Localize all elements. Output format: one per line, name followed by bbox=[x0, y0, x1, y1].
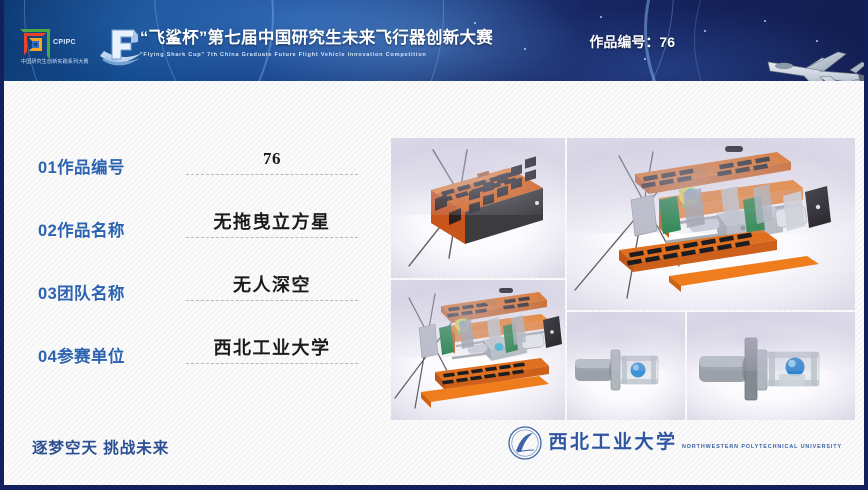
entry-info-list: 01作品编号 76 02作品名称 无拖曳立方星 03团队名称 无人深空 bbox=[38, 144, 368, 396]
cpipc-name-cn: 中国研究生创新实践系列大赛 bbox=[21, 58, 89, 65]
info-value-team-name: 无人深空 bbox=[186, 270, 358, 300]
thruster-detail-view-1 bbox=[567, 312, 685, 420]
cubesat-assembled-view bbox=[391, 138, 565, 278]
competition-title-cn: “飞鲨杯”第七届中国研究生未来飞行器创新大赛 bbox=[140, 28, 450, 49]
competition-title-en: "Flying Shark Cup" 7th China Graduate Fu… bbox=[140, 52, 450, 58]
info-value-institution-wrap: 西北工业大学 bbox=[186, 333, 358, 364]
footer-slogan: 逐梦空天 挑战未来 bbox=[32, 436, 169, 458]
info-label-work-number: 01作品编号 bbox=[38, 154, 125, 178]
cubesat-exploded-view-small bbox=[391, 280, 565, 420]
flying-shark-f-emblem-icon bbox=[96, 26, 144, 72]
info-row-3: 03团队名称 无人深空 bbox=[38, 270, 368, 333]
info-row-1: 01作品编号 76 bbox=[38, 144, 368, 207]
npu-university-logo: 西北工业大学 NORTHWESTERN POLYTECHNICAL UNIVER… bbox=[508, 421, 842, 465]
info-value-team-name-wrap: 无人深空 bbox=[186, 270, 358, 301]
header-star bbox=[816, 40, 818, 42]
fighter-jet-icon bbox=[762, 44, 864, 81]
info-rule bbox=[186, 237, 358, 238]
slide-header-banner: CPIPC 中国研究生创新实践系列大赛 “飞鲨杯”第七届中国研究生未来飞行器创新… bbox=[4, 0, 864, 81]
header-star bbox=[644, 58, 646, 60]
info-label-institution: 04参赛单位 bbox=[38, 343, 125, 367]
info-value-institution: 西北工业大学 bbox=[186, 333, 358, 363]
header-star bbox=[764, 20, 766, 22]
thruster-detail-view-2 bbox=[687, 312, 855, 420]
npu-name-block: 西北工业大学 NORTHWESTERN POLYTECHNICAL UNIVER… bbox=[549, 433, 842, 454]
presentation-slide: CPIPC 中国研究生创新实践系列大赛 “飞鲨杯”第七届中国研究生未来飞行器创新… bbox=[0, 0, 868, 490]
header-star bbox=[524, 48, 526, 50]
info-rule bbox=[186, 363, 358, 364]
cubesat-exploded-view-large bbox=[567, 138, 855, 310]
header-star bbox=[600, 16, 602, 18]
cubesat-image-gallery bbox=[391, 138, 855, 420]
npu-seal-icon bbox=[508, 426, 542, 460]
entry-number-badge: 作品编号：76 bbox=[589, 32, 675, 52]
slide-canvas: CPIPC 中国研究生创新实践系列大赛 “飞鲨杯”第七届中国研究生未来飞行器创新… bbox=[4, 0, 864, 485]
info-row-2: 02作品名称 无拖曳立方星 bbox=[38, 207, 368, 270]
cpipc-spiral-icon bbox=[20, 29, 50, 59]
cpipc-abbr: CPIPC bbox=[53, 39, 76, 46]
info-value-work-number: 76 bbox=[186, 144, 358, 174]
npu-name-en: NORTHWESTERN POLYTECHNICAL UNIVERSITY bbox=[682, 444, 842, 450]
info-value-work-name: 无拖曳立方星 bbox=[186, 207, 358, 237]
header-star bbox=[704, 30, 706, 32]
npu-name-cn: 西北工业大学 bbox=[549, 432, 678, 453]
header-star bbox=[474, 22, 476, 24]
info-label-team-name: 03团队名称 bbox=[38, 280, 125, 304]
info-value-work-number-wrap: 76 bbox=[186, 144, 358, 175]
competition-title-block: “飞鲨杯”第七届中国研究生未来飞行器创新大赛 "Flying Shark Cup… bbox=[140, 28, 450, 58]
info-rule bbox=[186, 174, 358, 175]
info-row-4: 04参赛单位 西北工业大学 bbox=[38, 333, 368, 396]
info-value-work-name-wrap: 无拖曳立方星 bbox=[186, 207, 358, 238]
info-label-work-name: 02作品名称 bbox=[38, 217, 125, 241]
info-rule bbox=[186, 300, 358, 301]
cpipc-logo: CPIPC 中国研究生创新实践系列大赛 bbox=[20, 28, 76, 68]
